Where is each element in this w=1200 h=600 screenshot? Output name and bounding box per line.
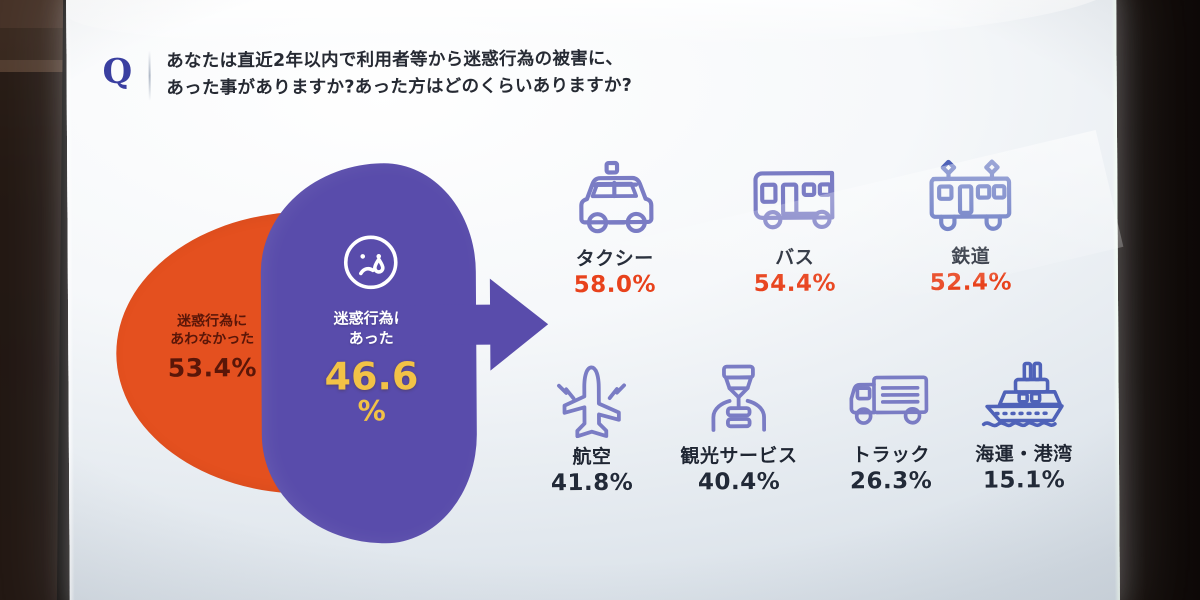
mode-bus: バス 54.4% [719, 152, 870, 297]
mode-taxi-label: タクシー [540, 243, 690, 271]
mode-tourism-value: 40.4% [649, 469, 829, 496]
question-header: Q あなたは直近2年以内で利用者等から迷惑行為の被害に、 あった事がありますか?… [94, 46, 632, 104]
mode-marine-label: 海運・港湾 [939, 439, 1109, 467]
mode-train: 鉄道 52.4% [895, 151, 1046, 296]
mode-air: 航空 41.8% [526, 352, 657, 497]
mode-air-label: 航空 [527, 442, 657, 470]
projection-screen: Q あなたは直近2年以内で利用者等から迷惑行為の被害に、 あった事がありますか?… [66, 0, 1120, 600]
slide-content: Q あなたは直近2年以内で利用者等から迷惑行為の被害に、 あった事がありますか?… [66, 0, 1120, 600]
airplane-icon [526, 352, 657, 439]
projected-slide-photo: Q あなたは直近2年以内で利用者等から迷惑行為の被害に、 あった事がありますか?… [0, 0, 1200, 600]
question-line-1: あなたは直近2年以内で利用者等から迷惑行為の被害に、 [166, 46, 632, 76]
mode-train-value: 52.4% [896, 269, 1046, 296]
mode-air-value: 41.8% [527, 470, 657, 497]
mode-marine: 海運・港湾 15.1% [938, 349, 1109, 494]
mode-bus-value: 54.4% [720, 270, 870, 297]
bus-icon [719, 152, 870, 239]
tourism-staff-icon [648, 351, 829, 438]
question-text: あなたは直近2年以内で利用者等から迷惑行為の被害に、 あった事がありますか?あっ… [166, 46, 632, 103]
mode-bus-label: バス [720, 242, 870, 270]
crying-face-icon [334, 225, 408, 299]
taxi-icon [539, 153, 690, 240]
question-line-2: あった事がありますか?あった方はどのくらいありますか? [166, 73, 632, 103]
mode-marine-value: 15.1% [939, 467, 1109, 494]
transport-mode-grid: タクシー 58.0% [497, 151, 1089, 555]
question-marker: Q [94, 49, 148, 89]
train-icon [895, 151, 1046, 238]
mode-tourism-label: 観光サービス [649, 441, 829, 469]
mode-taxi-value: 58.0% [540, 271, 690, 298]
pie-value-had-harassment-unit: % [277, 396, 467, 425]
mode-taxi: タクシー 58.0% [539, 153, 690, 298]
room-wall-right [1108, 0, 1200, 600]
ship-icon [938, 349, 1109, 436]
mode-train-label: 鉄道 [896, 241, 1046, 269]
mode-tourism: 観光サービス 40.4% [648, 351, 829, 496]
header-divider [148, 51, 150, 101]
